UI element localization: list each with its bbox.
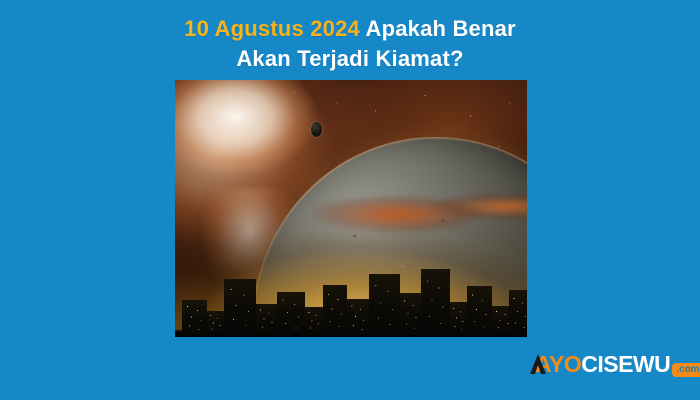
mountain-peak-icon <box>528 353 548 375</box>
headline-date: 10 Agustus 2024 <box>184 16 360 41</box>
article-image <box>175 80 527 337</box>
article-thumbnail-card: 10 Agustus 2024 Apakah Benar Akan Terjad… <box>0 0 700 400</box>
logo-tld-badge: .com <box>672 363 700 377</box>
headline-line-1: 10 Agustus 2024 Apakah Benar <box>184 16 516 41</box>
logo-text-cisewu: CISEWU <box>581 351 670 378</box>
night-city-skyline <box>175 250 527 337</box>
foreground-ground <box>175 329 527 337</box>
headline-question-part: Apakah Benar <box>360 16 516 41</box>
site-logo[interactable]: AYO CISEWU .com <box>528 350 700 378</box>
page-title: 10 Agustus 2024 Apakah Benar Akan Terjad… <box>0 14 700 74</box>
building <box>369 274 401 337</box>
headline-line-2: Akan Terjadi Kiamat? <box>0 44 700 74</box>
building <box>421 269 449 337</box>
small-moon <box>311 122 322 137</box>
